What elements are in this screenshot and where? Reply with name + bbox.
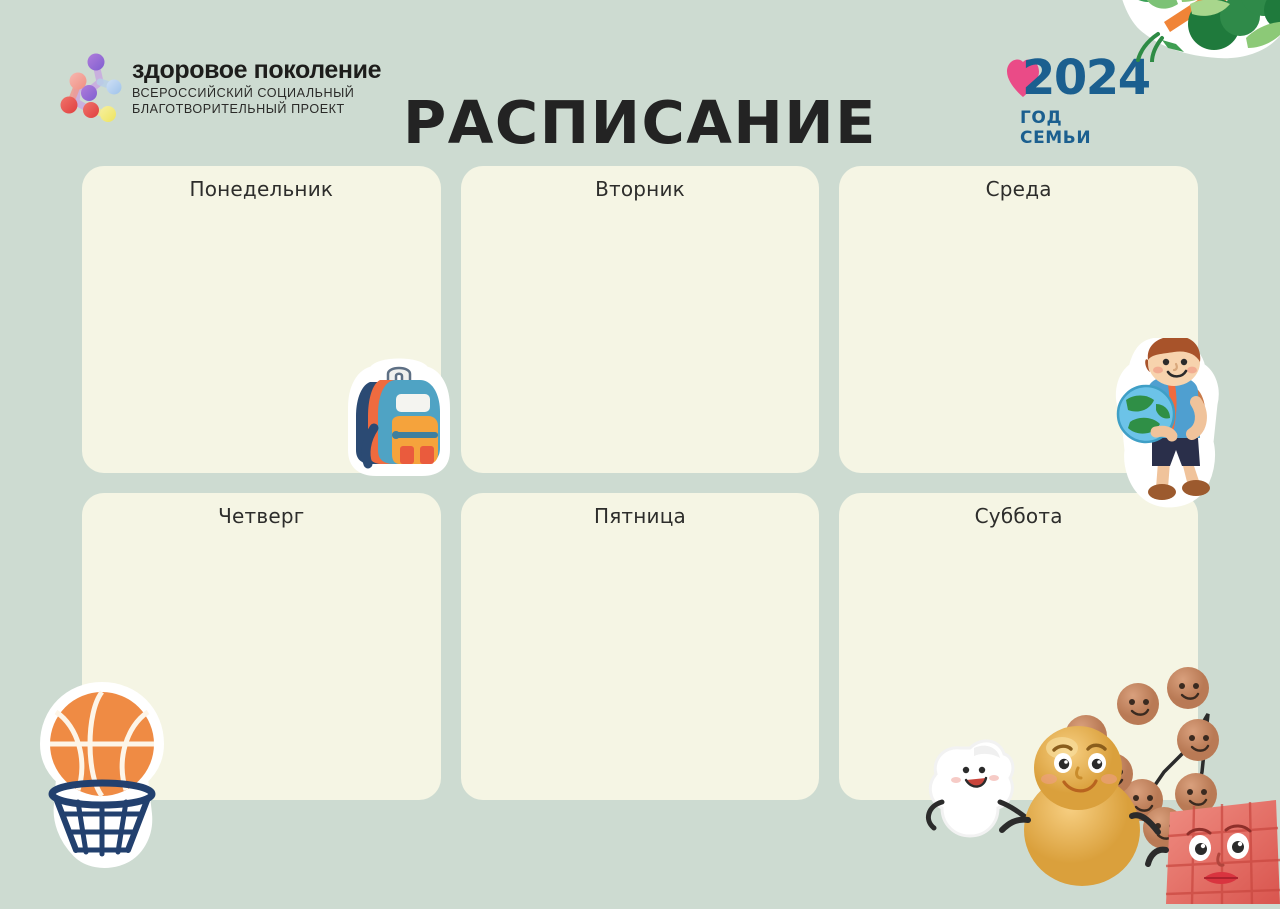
day-card-thursday[interactable]: Четверг bbox=[82, 493, 441, 800]
day-label: Среда bbox=[839, 177, 1198, 201]
year-logo-row: 2024 bbox=[1006, 52, 1134, 108]
day-card-monday[interactable]: Понедельник bbox=[82, 166, 441, 473]
page-header: здоровое поколение ВСЕРОССИЙСКИЙ СОЦИАЛЬ… bbox=[0, 0, 1280, 160]
day-label: Суббота bbox=[839, 504, 1198, 528]
year-of-family-logo: 2024 ГОД СЕМЬИ bbox=[1006, 52, 1134, 134]
day-label: Понедельник bbox=[82, 177, 441, 201]
brand-name: здоровое поколение bbox=[132, 58, 381, 83]
day-label: Пятница bbox=[461, 504, 820, 528]
day-card-friday[interactable]: Пятница bbox=[461, 493, 820, 800]
day-card-tuesday[interactable]: Вторник bbox=[461, 166, 820, 473]
day-card-saturday[interactable]: Суббота bbox=[839, 493, 1198, 800]
schedule-grid: Понедельник Вторник Среда Четверг Пятниц… bbox=[82, 166, 1198, 800]
year-number: 2024 bbox=[1022, 50, 1150, 106]
day-card-wednesday[interactable]: Среда bbox=[839, 166, 1198, 473]
waffle-character bbox=[1148, 800, 1280, 904]
day-label: Вторник bbox=[461, 177, 820, 201]
year-caption: ГОД СЕМЬИ bbox=[1020, 108, 1134, 148]
day-label: Четверг bbox=[82, 504, 441, 528]
